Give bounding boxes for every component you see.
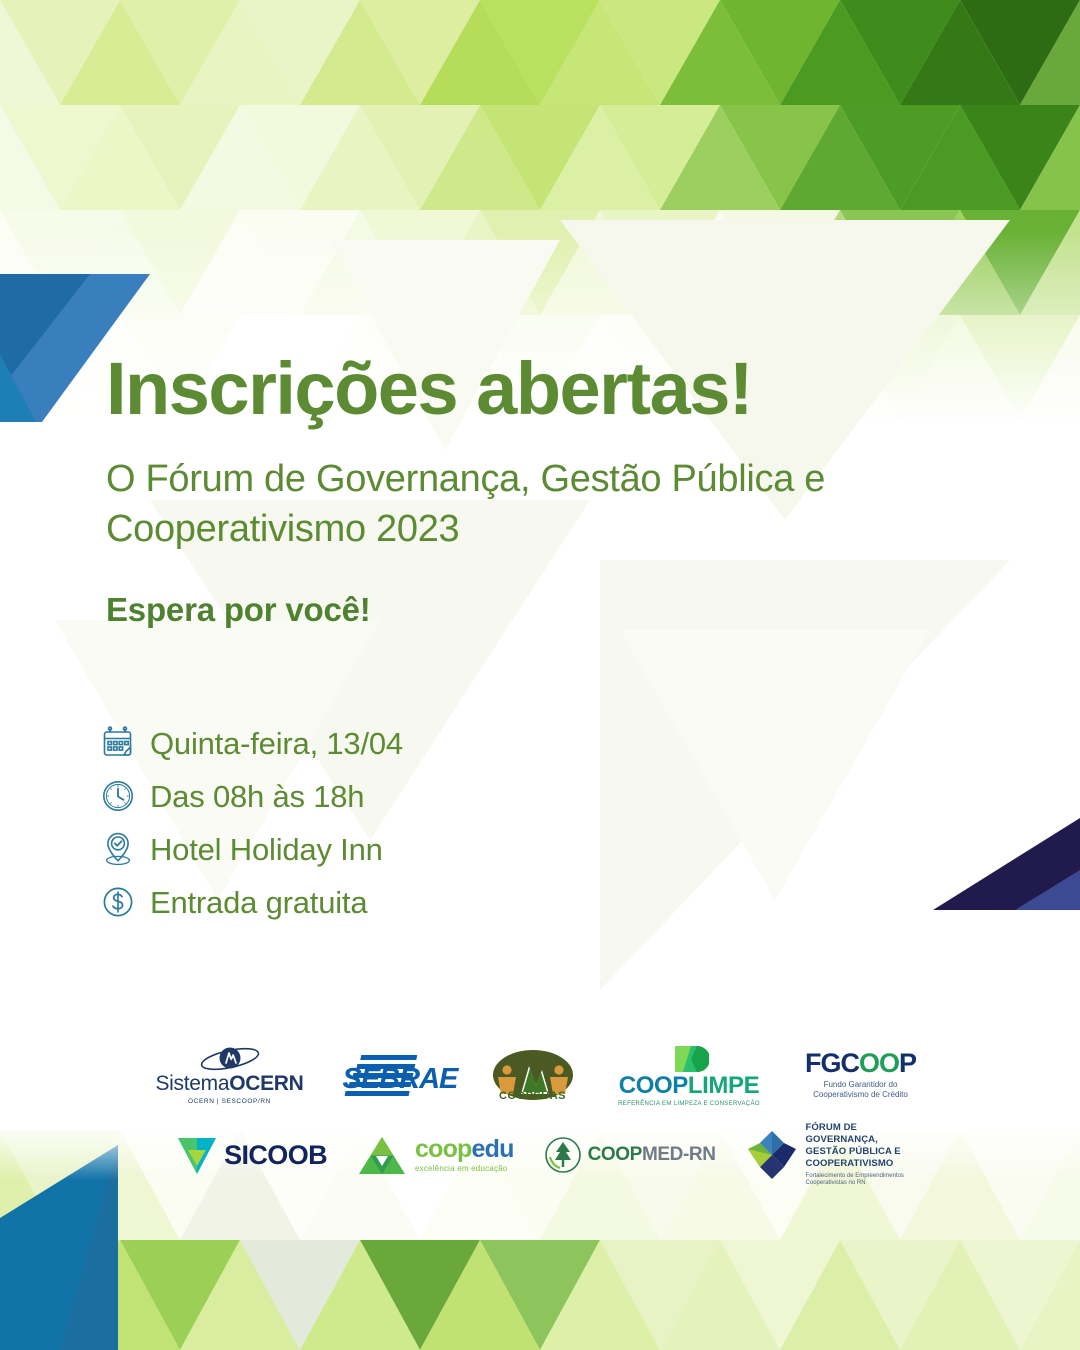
coopsuas-wordmark: COOPSUAS [499, 1090, 566, 1102]
list-item: Quinta-feira, 13/04 [96, 722, 656, 764]
ocern-wordmark: SistemaOCERN [155, 1073, 303, 1094]
page-title: Inscrições abertas! [106, 352, 966, 426]
coopedu-text-block: coopedu excelência em educação [415, 1137, 514, 1173]
sebrae-wordmark: SEBRAE [343, 1065, 458, 1094]
sponsor-logos: SistemaOCERN OCERN | SESCOOP/RN SEBRAE [0, 1036, 1080, 1186]
logo-coopedu: coopedu excelência em educação [357, 1134, 514, 1176]
coopedu-subtitle: excelência em educação [415, 1164, 507, 1173]
logo-forum-governanca: FÓRUM DE GOVERNANÇA, GESTÃO PÚBLICA E CO… [746, 1122, 904, 1188]
event-venue-text: Hotel Holiday Inn [150, 834, 383, 865]
fgcoop-wordmark: FGCOOP [805, 1050, 916, 1077]
list-item: Hotel Holiday Inn [96, 828, 656, 870]
sponsor-logo-row-2: SICOOB coopedu excelência em educação [0, 1124, 1080, 1186]
logo-coopmed-rn: COOPMED-RN [544, 1136, 716, 1174]
event-tagline: Espera por você! [106, 590, 966, 630]
right-navy-accent-shape [905, 818, 1080, 928]
coopedu-wordmark: coopedu [415, 1137, 514, 1162]
logo-fgcoop: FGCOOP Fundo Garantidor do Cooperativism… [796, 1050, 926, 1099]
forum-subtitle: Fortalecimento de Empreendimentos Cooper… [806, 1173, 904, 1188]
event-date-text: Quinta-feira, 13/04 [150, 728, 403, 759]
event-details-list: Quinta-feira, 13/04 Das 08h às 18h [96, 722, 656, 934]
logo-sistemaocern: SistemaOCERN OCERN | SESCOOP/RN [155, 1045, 305, 1105]
logo-sebrae: SEBRAE [339, 1047, 449, 1103]
forum-wordmark: FÓRUM DE GOVERNANÇA, GESTÃO PÚBLICA E CO… [806, 1122, 901, 1170]
cooplimpe-leaf-icon [669, 1044, 709, 1074]
coopmed-wordmark: COOPMED-RN [588, 1144, 716, 1166]
logo-coopsuas: COOPSUAS [483, 1048, 583, 1102]
cooplimpe-subtitle: REFERÊNCIA EM LIMPEZA E CONSERVAÇÃO [618, 1101, 760, 1107]
event-subtitle-line2: Cooperativismo 2023 [106, 508, 459, 550]
clock-icon [96, 775, 140, 817]
ocern-orbit-icon [199, 1045, 261, 1073]
event-time-text: Das 08h às 18h [150, 781, 364, 812]
list-item: Entrada gratuita [96, 881, 656, 923]
coopedu-triangle-icon [357, 1134, 407, 1176]
event-price-text: Entrada gratuita [150, 887, 367, 918]
event-poster: Inscrições abertas! O Fórum de Governanç… [0, 0, 1080, 1350]
dollar-circle-icon [96, 881, 140, 923]
coopmed-tree-icon [544, 1136, 582, 1174]
fgcoop-subtitle: Fundo Garantidor do Cooperativismo de Cr… [813, 1080, 908, 1099]
ocern-subtitle: OCERN | SESCOOP/RN [188, 1098, 271, 1105]
sicoob-wordmark: SICOOB [224, 1140, 327, 1171]
sponsor-logo-row-1: SistemaOCERN OCERN | SESCOOP/RN SEBRAE [0, 1036, 1080, 1114]
event-subtitle: O Fórum de Governança, Gestão Pública e … [106, 454, 906, 554]
poster-copy: Inscrições abertas! O Fórum de Governanç… [106, 352, 966, 630]
location-pin-check-icon [96, 828, 140, 870]
list-item: Das 08h às 18h [96, 775, 656, 817]
logo-cooplimpe: COOPLIMPE REFERÊNCIA EM LIMPEZA E CONSER… [617, 1044, 762, 1107]
calendar-icon [96, 722, 140, 764]
event-subtitle-line1: O Fórum de Governança, Gestão Pública e [106, 458, 825, 500]
forum-text-block: FÓRUM DE GOVERNANÇA, GESTÃO PÚBLICA E CO… [806, 1122, 904, 1188]
logo-sicoob: SICOOB [176, 1134, 327, 1176]
sicoob-triangle-icon [176, 1134, 218, 1176]
cooplimpe-wordmark: COOPLIMPE [619, 1074, 759, 1098]
forum-diamond-icon [746, 1129, 798, 1181]
